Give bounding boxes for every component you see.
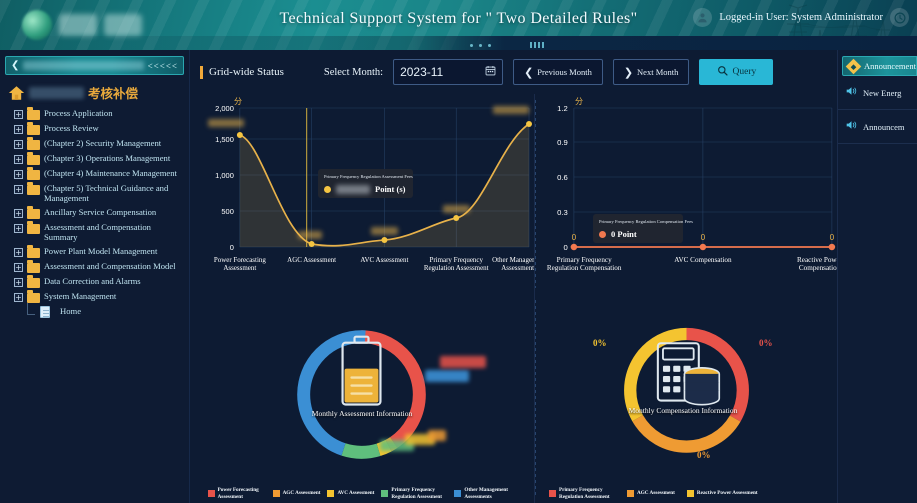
legend-item[interactable]: Primary Frequency Regulation Assessment (381, 487, 447, 500)
pct-label-other-management-masked (425, 370, 469, 382)
sidebar-item-label: Assessment and Compensation Model (44, 261, 176, 272)
announcement-header: Announcement (842, 56, 917, 76)
compensation-donut-legend: Primary Frequency Regulation Assessment … (535, 487, 837, 500)
x-tick-label: Regulation Assessment (424, 264, 489, 272)
x-tick-label: Regulation Compensation (547, 264, 622, 272)
expander-plus-icon[interactable]: + (14, 125, 23, 134)
x-tick-label: AGC Assessment (287, 256, 336, 264)
assessment-donut-center-label: Monthly Assessment Information (277, 409, 447, 418)
expander-plus-icon[interactable]: + (14, 170, 23, 179)
y-tick-label: 1.2 (557, 104, 568, 113)
data-point (309, 241, 315, 247)
sidebar-item-process-review[interactable]: + Process Review (14, 121, 189, 136)
data-point (571, 244, 578, 250)
assessment-donut-legend: Power Forecasting Assessment AGC Assessm… (190, 487, 534, 500)
previous-month-button[interactable]: ❮ Previous Month (513, 59, 603, 85)
panel-title-label: Grid-wide Status (209, 66, 284, 78)
pct-label-primary-frequency: 0% (759, 338, 773, 348)
legend-item[interactable]: AGC Assessment (273, 490, 321, 497)
pct-label-power-forecasting-masked (440, 356, 486, 368)
expander-plus-icon[interactable]: + (14, 209, 23, 218)
expander-plus-icon[interactable]: + (14, 110, 23, 119)
home-icon (8, 85, 25, 101)
header-dots-decoration (470, 44, 491, 47)
sidebar-item-security-management[interactable]: + (Chapter 2) Security Management (14, 136, 189, 151)
expander-plus-icon[interactable]: + (14, 278, 23, 287)
sidebar-item-maintenance-management[interactable]: + (Chapter 4) Maintenance Management (14, 166, 189, 181)
folder-icon (27, 293, 40, 303)
sidebar: ❮ <<<<< 考核补偿 + Process Application + (0, 50, 190, 503)
sidebar-item-process-application[interactable]: + Process Application (14, 106, 189, 121)
folder-icon (27, 248, 40, 258)
announcement-item-label: Announcem (863, 122, 905, 132)
data-point (381, 237, 387, 243)
y-tick-label: 1,000 (215, 171, 234, 180)
folder-icon (27, 224, 40, 234)
legend-item[interactable]: AGC Assessment (627, 490, 675, 497)
y-tick-label: 0.9 (557, 138, 568, 147)
expander-plus-icon[interactable]: + (14, 155, 23, 164)
tree-root-label: 考核补偿 (88, 83, 138, 102)
data-point-label: 0 (701, 233, 706, 242)
data-point (700, 244, 707, 250)
folder-icon (27, 185, 40, 195)
data-point-label-masked (371, 227, 398, 235)
announcement-panel: Announcement New Energ Announcem (837, 50, 917, 503)
clock-icon[interactable] (890, 8, 909, 27)
assessment-donut-chart: Monthly Assessment Information Power For… (190, 294, 535, 503)
panel-divider (535, 100, 536, 288)
sidebar-item-label: (Chapter 3) Operations Management (44, 153, 170, 164)
data-point-label: 0 (572, 233, 577, 242)
app-header: Technical Support System for " Two Detai… (0, 0, 917, 50)
month-input-value: 2023-11 (400, 65, 443, 79)
previous-month-label: Previous Month (537, 67, 592, 77)
sidebar-item-label: Home (60, 306, 81, 317)
folder-icon (27, 125, 40, 135)
data-point-label-masked (208, 119, 244, 127)
legend-label: Primary Frequency Regulation Assessment (559, 487, 615, 500)
sidebar-item-label: (Chapter 4) Maintenance Management (44, 168, 177, 179)
sidebar-tree: + Process Application + Process Review +… (0, 106, 189, 319)
folder-icon (27, 140, 40, 150)
select-month-label: Select Month: (324, 67, 383, 78)
legend-item[interactable]: Primary Frequency Regulation Assessment (549, 487, 615, 500)
y-tick-label: 0.3 (557, 208, 568, 217)
sidebar-collapse-label: <<<<< (148, 61, 178, 71)
sidebar-item-home[interactable]: Home (14, 304, 189, 319)
speaker-icon (846, 86, 857, 99)
sidebar-item-label: Data Correction and Alarms (44, 276, 141, 287)
query-button[interactable]: Query (699, 59, 773, 85)
bottom-charts-row: Monthly Assessment Information Power For… (190, 294, 837, 503)
next-month-button[interactable]: ❯ Next Month (613, 59, 690, 85)
announcement-item-new-energy[interactable]: New Energ (838, 76, 917, 110)
data-point-label: 0 (830, 233, 835, 242)
y-tick-label: 2,000 (215, 104, 234, 113)
legend-label: Power Forecasting Assessment (218, 487, 266, 500)
legend-label: AGC Assessment (637, 490, 675, 497)
tree-elbow-connector (27, 303, 35, 315)
x-tick-label: AVC Compensation (674, 256, 732, 264)
sidebar-item-label: System Management (44, 291, 116, 302)
data-point (453, 215, 459, 221)
pct-label-agc: 0% (697, 450, 711, 460)
sidebar-item-data-correction-alarms[interactable]: + Data Correction and Alarms (14, 274, 189, 289)
donut-title: Monthly Assessment Information (277, 409, 447, 418)
assessment-chart-unit: 分 (234, 96, 242, 107)
legend-swatch (454, 490, 461, 497)
sidebar-item-label: Process Application (44, 108, 113, 119)
legend-item[interactable]: Other Management Assessments (454, 487, 516, 500)
sidebar-item-label: Power Plant Model Management (44, 246, 157, 257)
panel-title: Grid-wide Status (200, 66, 284, 79)
sidebar-item-assessment-compensation-model[interactable]: + Assessment and Compensation Model (14, 259, 189, 274)
announcement-item-label: New Energ (863, 88, 901, 98)
expander-plus-icon[interactable]: + (14, 140, 23, 149)
folder-icon (27, 170, 40, 180)
legend-item[interactable]: Power Forecasting Assessment (208, 487, 266, 500)
legend-swatch (273, 490, 280, 497)
x-tick-label: Reactive Power (797, 256, 837, 264)
compensation-donut-plot (535, 294, 837, 503)
main-content: Grid-wide Status Select Month: 2023-11 ❮… (190, 50, 837, 503)
x-tick-label: Compensation (799, 264, 837, 272)
chevron-left-icon: ❮ (11, 60, 19, 71)
header-bars-decoration (530, 42, 544, 48)
x-tick-label: Assessment (223, 264, 256, 272)
folder-icon (27, 263, 40, 273)
assessment-line-chart: 分 (190, 94, 535, 294)
sidebar-item-technical-guidance-management[interactable]: + (Chapter 5) Technical Guidance and Man… (14, 181, 189, 205)
data-point-label-masked (493, 106, 529, 114)
compensation-donut-chart: Monthly Compensation Information 0% 0% 0… (535, 294, 837, 503)
title-accent-bar (200, 66, 203, 79)
y-tick-label: 0 (563, 243, 567, 252)
y-tick-label: 500 (221, 207, 233, 216)
compensation-line-chart: 分 (535, 94, 837, 294)
legend-label: Primary Frequency Regulation Assessment (391, 487, 447, 500)
toolbar: Grid-wide Status Select Month: 2023-11 ❮… (190, 50, 837, 94)
legend-item[interactable]: Reactive Power Assessment (687, 490, 758, 497)
tree-root-node[interactable]: 考核补偿 (0, 77, 189, 106)
file-icon (40, 306, 50, 318)
folder-icon (27, 110, 40, 120)
legend-swatch (327, 490, 334, 497)
sidebar-item-ancillary-service-compensation[interactable]: + Ancillary Service Compensation (14, 205, 189, 220)
expander-plus-icon[interactable]: + (14, 248, 23, 257)
sidebar-item-assessment-compensation-summary[interactable]: + Assessment and Compensation Summary (14, 220, 189, 244)
sidebar-item-label: Process Review (44, 123, 99, 134)
diamond-icon (846, 58, 862, 74)
data-point (526, 121, 532, 127)
legend-swatch (208, 490, 215, 497)
legend-label: AGC Assessment (283, 490, 321, 497)
x-tick-label: AVC Assessment (360, 256, 408, 264)
announcement-title: Announcement (864, 61, 916, 71)
sidebar-item-label: (Chapter 5) Technical Guidance and Manag… (44, 183, 184, 204)
data-point-label-masked (443, 205, 470, 213)
legend-label: Other Management Assessments (464, 487, 516, 500)
folder-icon (27, 209, 40, 219)
data-point (237, 132, 243, 138)
tree-root-masked-text (29, 87, 84, 99)
legend-swatch (687, 490, 694, 497)
user-icon (693, 8, 712, 27)
x-tick-label: Primary Frequency (557, 256, 613, 264)
legend-swatch (627, 490, 634, 497)
calendar-icon[interactable] (485, 65, 496, 79)
legend-swatch (549, 490, 556, 497)
y-tick-label: 0 (230, 243, 234, 252)
sidebar-item-power-plant-model-management[interactable]: + Power Plant Model Management (14, 244, 189, 259)
legend-label: Reactive Power Assessment (697, 490, 758, 497)
x-tick-label: Other Management (492, 256, 534, 264)
chevron-left-icon: ❮ (524, 66, 533, 79)
sidebar-item-label: Assessment and Compensation Summary (44, 222, 174, 243)
chevron-right-icon: ❯ (624, 66, 633, 79)
x-tick-label: Primary Frequency (429, 256, 483, 264)
expander-plus-icon[interactable]: + (14, 224, 23, 233)
legend-label: AVC Assessment (337, 490, 374, 497)
x-tick-label: Power Forecasting (214, 256, 267, 264)
compensation-donut-center-label: Monthly Compensation Information (603, 406, 763, 415)
sidebar-collapse-masked-text (23, 61, 143, 70)
compensation-line-plot: 0 0 0 1.2 0.9 0.6 0.3 0 Primary Frequenc… (535, 94, 837, 294)
pct-label-agc-masked (428, 430, 446, 441)
pct-label-reactive-power: 0% (593, 338, 607, 348)
x-tick-label: Assessments (501, 264, 534, 272)
folder-icon (27, 278, 40, 288)
data-point (829, 244, 836, 250)
battery-icon (343, 337, 381, 405)
y-tick-label: 0.6 (557, 173, 568, 182)
search-icon (717, 65, 728, 79)
data-point-label-masked (298, 231, 322, 239)
speaker-icon (846, 120, 857, 133)
assessment-donut-plot (190, 294, 534, 503)
announcement-item-announcement[interactable]: Announcem (838, 110, 917, 144)
compensation-chart-unit: 分 (575, 96, 583, 107)
next-month-label: Next Month (637, 67, 678, 77)
legend-item[interactable]: AVC Assessment (327, 490, 374, 497)
expander-plus-icon[interactable]: + (14, 185, 23, 194)
donut-title: Monthly Compensation Information (603, 406, 763, 415)
header-user-area: Logged-in User: System Administrator (693, 8, 909, 27)
sidebar-item-label: (Chapter 2) Security Management (44, 138, 161, 149)
sidebar-item-operations-management[interactable]: + (Chapter 3) Operations Management (14, 151, 189, 166)
sidebar-collapse-button[interactable]: ❮ <<<<< (5, 56, 184, 75)
expander-plus-icon[interactable]: + (14, 263, 23, 272)
month-input[interactable]: 2023-11 (393, 59, 503, 85)
calculator-coins-icon (658, 343, 719, 404)
expander-plus-icon[interactable]: + (14, 293, 23, 302)
logged-in-user-label: Logged-in User: System Administrator (719, 12, 883, 23)
header-bottom-band (0, 36, 917, 50)
sidebar-item-system-management[interactable]: + System Management (14, 289, 189, 304)
folder-icon (27, 155, 40, 165)
legend-swatch (381, 490, 388, 497)
query-button-label: Query (733, 67, 757, 77)
sidebar-item-label: Ancillary Service Compensation (44, 207, 156, 218)
y-tick-label: 1,500 (215, 135, 234, 144)
top-charts-row: 分 (190, 94, 837, 294)
